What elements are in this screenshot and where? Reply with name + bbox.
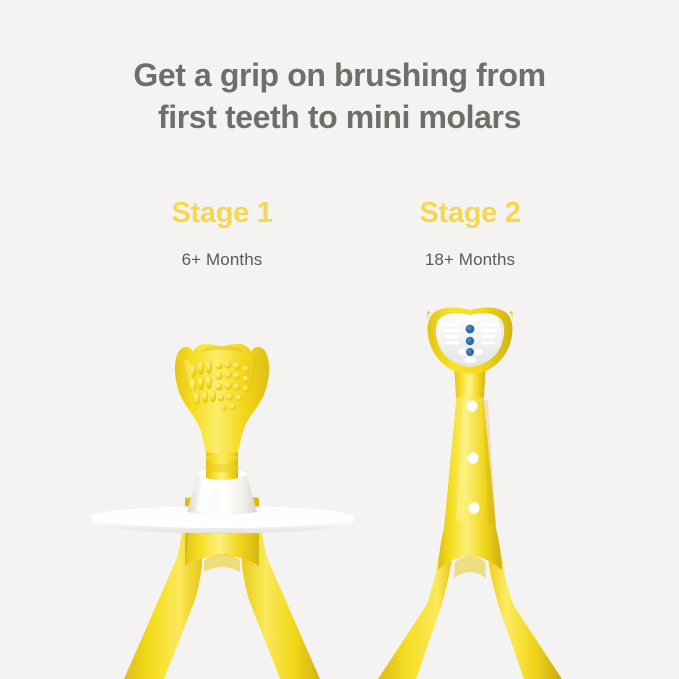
- stage-2-handle-legs: [378, 556, 562, 679]
- stage-2-title: Stage 2: [360, 198, 580, 230]
- stage-2-age: 18+ Months: [360, 250, 580, 270]
- brand-emboss-frida: frida: [202, 517, 244, 539]
- stage-1-stem: [205, 439, 239, 481]
- stage-2-handle: [438, 391, 502, 579]
- stage-1-brush-head: [175, 344, 269, 454]
- stage-1-silicone-nubs: [190, 360, 250, 411]
- stage-1-safety-shield: [90, 506, 354, 534]
- stage-2-neck: [454, 359, 486, 398]
- stage-2-indicator-bristles: [466, 325, 475, 356]
- stage-1-age: 6+ Months: [112, 250, 332, 270]
- stage-2-brush-head: [427, 308, 512, 374]
- headline-line-2: first teeth to mini molars: [46, 96, 633, 138]
- stage-1-title: Stage 1: [112, 198, 332, 230]
- stage-2-handle-grip-dots: [466, 400, 479, 513]
- stage-1-collar: [187, 469, 257, 515]
- stage-column-2: Stage 2 18+ Months: [360, 198, 580, 270]
- headline-line-1: Get a grip on brushing from: [46, 54, 633, 96]
- product-comparison-image: Get a grip on brushing from first teeth …: [0, 0, 679, 679]
- page-title: Get a grip on brushing from first teeth …: [0, 54, 679, 138]
- stage-column-1: Stage 1 6+ Months: [112, 198, 332, 270]
- stage-label-row: Stage 1 6+ Months Stage 2 18+ Months: [0, 198, 679, 298]
- stage-2-bristle-tufts: [443, 316, 497, 363]
- stage-1-handle-legs: [124, 495, 320, 679]
